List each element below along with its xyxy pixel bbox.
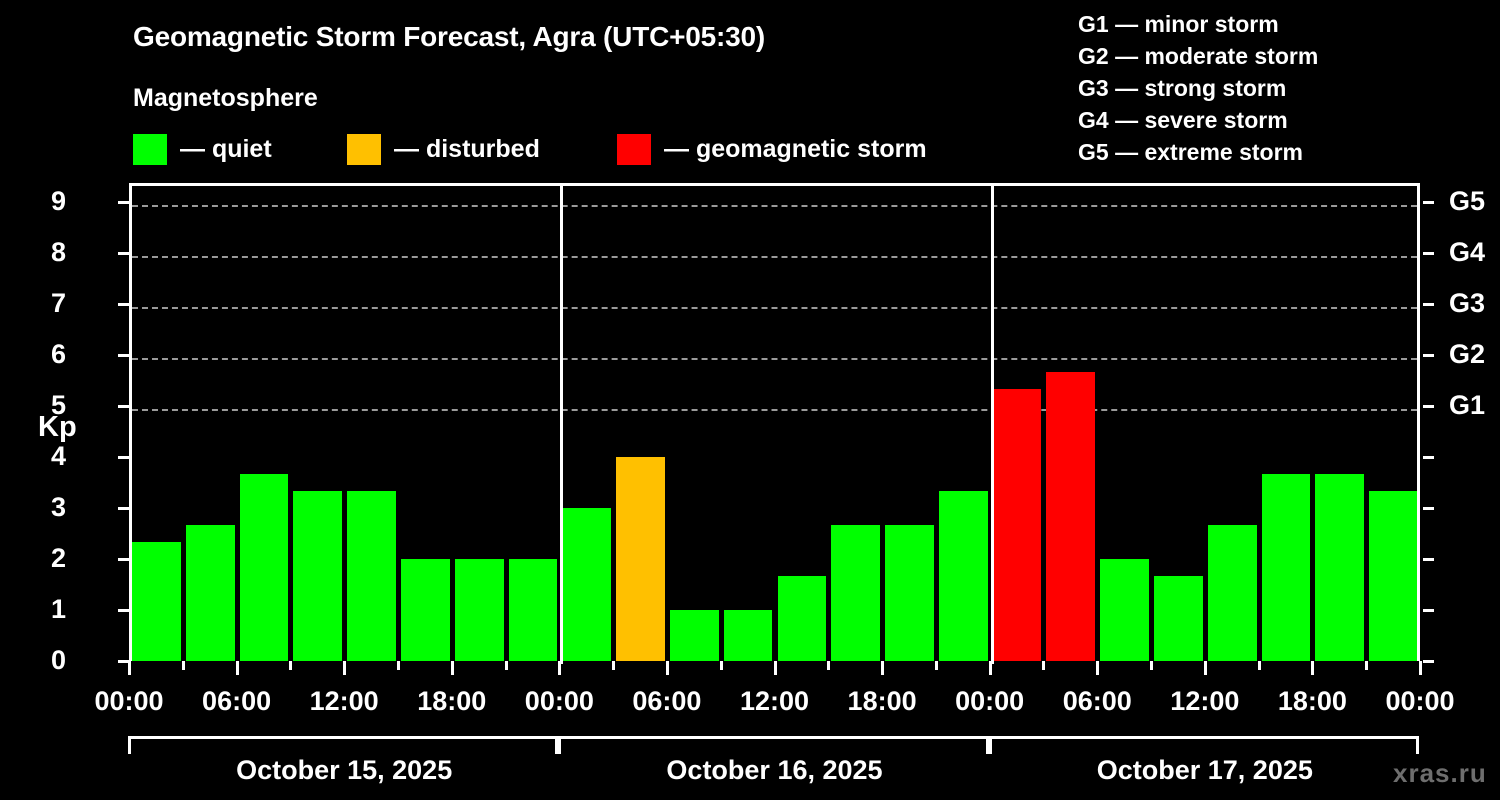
x-tick-mark-11 [720,661,723,670]
y-tick-mark-6 [118,354,129,357]
x-tick-mark-10 [666,661,669,675]
legend-swatch-geomagnetic-storm [617,134,651,165]
bar [778,576,827,661]
y-tick-label-0: 0 [6,647,66,674]
g-scale-row-1: G1 — minor storm [1078,8,1318,40]
date-label-2: October 16, 2025 [559,755,989,786]
legend-swatch-disturbed [347,134,381,165]
bar [1100,559,1149,661]
bar [186,525,235,661]
x-tick-label-4: 00:00 [525,686,594,717]
x-tick-label-2: 12:00 [310,686,379,717]
plot-inner [132,186,1417,661]
g-tick-label-G5: G5 [1449,188,1485,215]
x-tick-label-3: 18:00 [417,686,486,717]
gridline-kp-6 [132,358,1417,360]
y-tick-mark-9 [118,201,129,204]
x-tick-label-1: 06:00 [202,686,271,717]
x-tick-label-12: 00:00 [1385,686,1454,717]
x-tick-mark-1 [182,661,185,670]
y-tick-label-7: 7 [6,290,66,317]
right-tick-mark-kp-3 [1423,507,1434,510]
y-tick-label-2: 2 [6,545,66,572]
bar [562,508,611,661]
x-tick-mark-0 [128,661,131,675]
x-tick-mark-12 [774,661,777,675]
date-bracket-2 [558,736,988,754]
right-tick-mark-kp-2 [1423,558,1434,561]
x-tick-mark-3 [289,661,292,670]
x-tick-mark-22 [1311,661,1314,675]
legend-label-quiet: — quiet [180,135,272,164]
g-scale-row-5: G5 — extreme storm [1078,136,1318,168]
bar [401,559,450,661]
x-tick-mark-2 [236,661,239,675]
x-tick-mark-21 [1258,661,1261,670]
right-tick-mark-kp-8 [1423,252,1434,255]
bar [240,474,289,661]
x-tick-mark-23 [1365,661,1368,670]
legend-item-geomagnetic-storm: — geomagnetic storm [617,133,927,165]
right-tick-mark-kp-9 [1423,201,1434,204]
gridline-kp-7 [132,307,1417,309]
legend-label-geomagnetic-storm: — geomagnetic storm [664,135,927,164]
bar [993,389,1042,661]
y-tick-mark-7 [118,303,129,306]
legend-item-quiet: — quiet [133,133,272,165]
x-tick-label-0: 00:00 [94,686,163,717]
y-tick-label-3: 3 [6,494,66,521]
date-label-3: October 17, 2025 [990,755,1420,786]
page-title: Geomagnetic Storm Forecast, Agra (UTC+05… [133,21,765,53]
x-tick-mark-20 [1204,661,1207,675]
bar [724,610,773,661]
right-tick-mark-kp-1 [1423,609,1434,612]
g-tick-label-G3: G3 [1449,290,1485,317]
day-separator-1 [560,186,563,664]
y-tick-label-4: 4 [6,443,66,470]
x-tick-mark-16 [989,661,992,675]
x-tick-mark-7 [505,661,508,670]
y-tick-mark-4 [118,456,129,459]
bar [1208,525,1257,661]
legend-label-disturbed: — disturbed [394,135,540,164]
bar [670,610,719,661]
y-tick-mark-8 [118,252,129,255]
g-tick-label-G1: G1 [1449,392,1485,419]
y-tick-mark-1 [118,609,129,612]
date-bracket-3 [989,736,1419,754]
y-tick-label-5: 5 [6,392,66,419]
y-tick-mark-3 [118,507,129,510]
x-tick-mark-6 [451,661,454,675]
right-tick-mark-kp-4 [1423,456,1434,459]
x-tick-label-5: 06:00 [632,686,701,717]
x-tick-mark-8 [558,661,561,675]
bar [831,525,880,661]
right-tick-mark-kp-0 [1423,660,1434,663]
chart-canvas: Geomagnetic Storm Forecast, Agra (UTC+05… [0,0,1500,800]
bar [293,491,342,661]
legend-heading: Magnetosphere [133,84,318,113]
y-tick-mark-5 [118,405,129,408]
g-tick-label-G2: G2 [1449,341,1485,368]
gridline-kp-5 [132,409,1417,411]
x-tick-mark-4 [343,661,346,675]
bar [1046,372,1095,661]
g-scale-row-4: G4 — severe storm [1078,104,1318,136]
x-tick-mark-19 [1150,661,1153,670]
date-bracket-1 [128,736,558,754]
y-tick-label-6: 6 [6,341,66,368]
x-tick-label-7: 18:00 [848,686,917,717]
x-tick-label-6: 12:00 [740,686,809,717]
gridline-kp-8 [132,256,1417,258]
bar [347,491,396,661]
g-scale-legend: G1 — minor stormG2 — moderate stormG3 — … [1078,8,1318,168]
right-tick-mark-kp-5 [1423,405,1434,408]
right-axis-line [1417,183,1420,661]
date-label-1: October 15, 2025 [129,755,559,786]
legend-swatch-quiet [133,134,167,165]
bar [132,542,181,661]
bar [616,457,665,661]
gridline-kp-9 [132,205,1417,207]
x-tick-mark-5 [397,661,400,670]
y-tick-label-9: 9 [6,188,66,215]
x-tick-mark-9 [612,661,615,670]
legend-item-disturbed: — disturbed [347,133,540,165]
bar [509,559,558,661]
y-tick-mark-2 [118,558,129,561]
bar [455,559,504,661]
bar [1154,576,1203,661]
x-tick-mark-14 [881,661,884,675]
bar [939,491,988,661]
bar [1315,474,1364,661]
x-tick-mark-18 [1096,661,1099,675]
day-separator-2 [991,186,994,664]
right-tick-mark-kp-6 [1423,354,1434,357]
x-tick-mark-13 [827,661,830,670]
y-tick-label-8: 8 [6,239,66,266]
g-scale-row-3: G3 — strong storm [1078,72,1318,104]
bar [1369,491,1418,661]
g-tick-label-G4: G4 [1449,239,1485,266]
y-tick-label-1: 1 [6,596,66,623]
watermark: xras.ru [1393,758,1487,789]
x-tick-mark-17 [1042,661,1045,670]
x-tick-label-9: 06:00 [1063,686,1132,717]
x-tick-label-8: 00:00 [955,686,1024,717]
plot-area [129,183,1420,661]
x-tick-label-11: 18:00 [1278,686,1347,717]
right-tick-mark-kp-7 [1423,303,1434,306]
x-tick-mark-24 [1419,661,1422,675]
x-tick-label-10: 12:00 [1170,686,1239,717]
bar [885,525,934,661]
x-tick-mark-15 [935,661,938,670]
g-scale-row-2: G2 — moderate storm [1078,40,1318,72]
bar [1262,474,1311,661]
